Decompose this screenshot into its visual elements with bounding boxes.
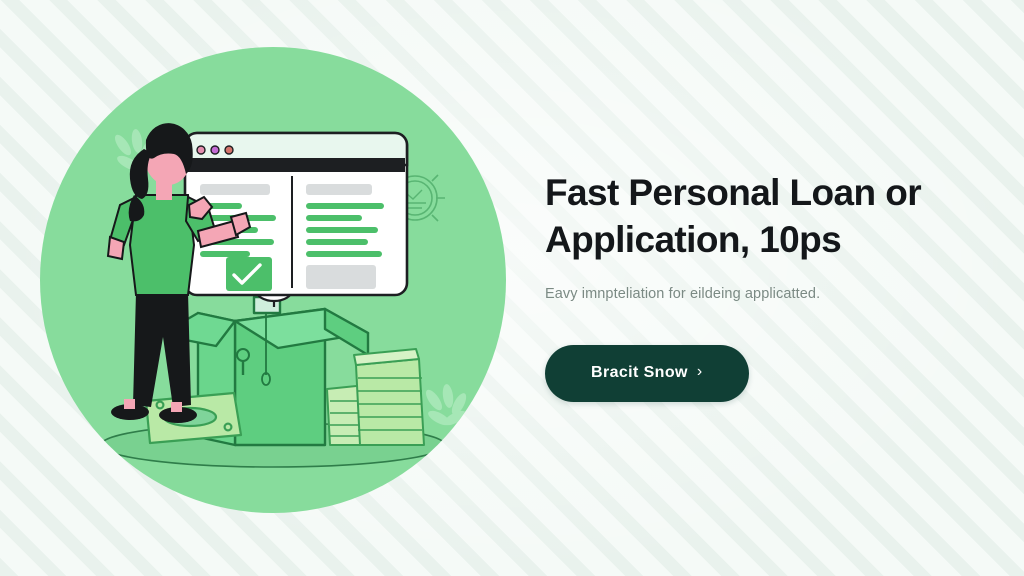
headline-line-1: Fast Personal Loan or: [545, 172, 921, 213]
window-dot-2: [211, 146, 219, 154]
hero-subtitle: Eavy imnpteliation for eildeing applicat…: [545, 284, 965, 306]
hero-copy: Fast Personal Loan orApplication, 10ps E…: [545, 170, 965, 402]
chevron-right-icon: ›: [697, 364, 703, 380]
browser-window-mockup: [185, 133, 407, 295]
page-title: Fast Personal Loan orApplication, 10ps: [545, 170, 965, 263]
cta-button-label: Bracit Snow: [591, 364, 688, 382]
hero-illustration: [38, 45, 508, 515]
window-dot-3: [225, 146, 233, 154]
cta-button[interactable]: Bracit Snow ›: [545, 345, 749, 402]
hero-banner: Fast Personal Loan orApplication, 10ps E…: [0, 0, 1024, 576]
headline-line-2: Application, 10ps: [545, 219, 841, 260]
window-dot-1: [197, 146, 205, 154]
